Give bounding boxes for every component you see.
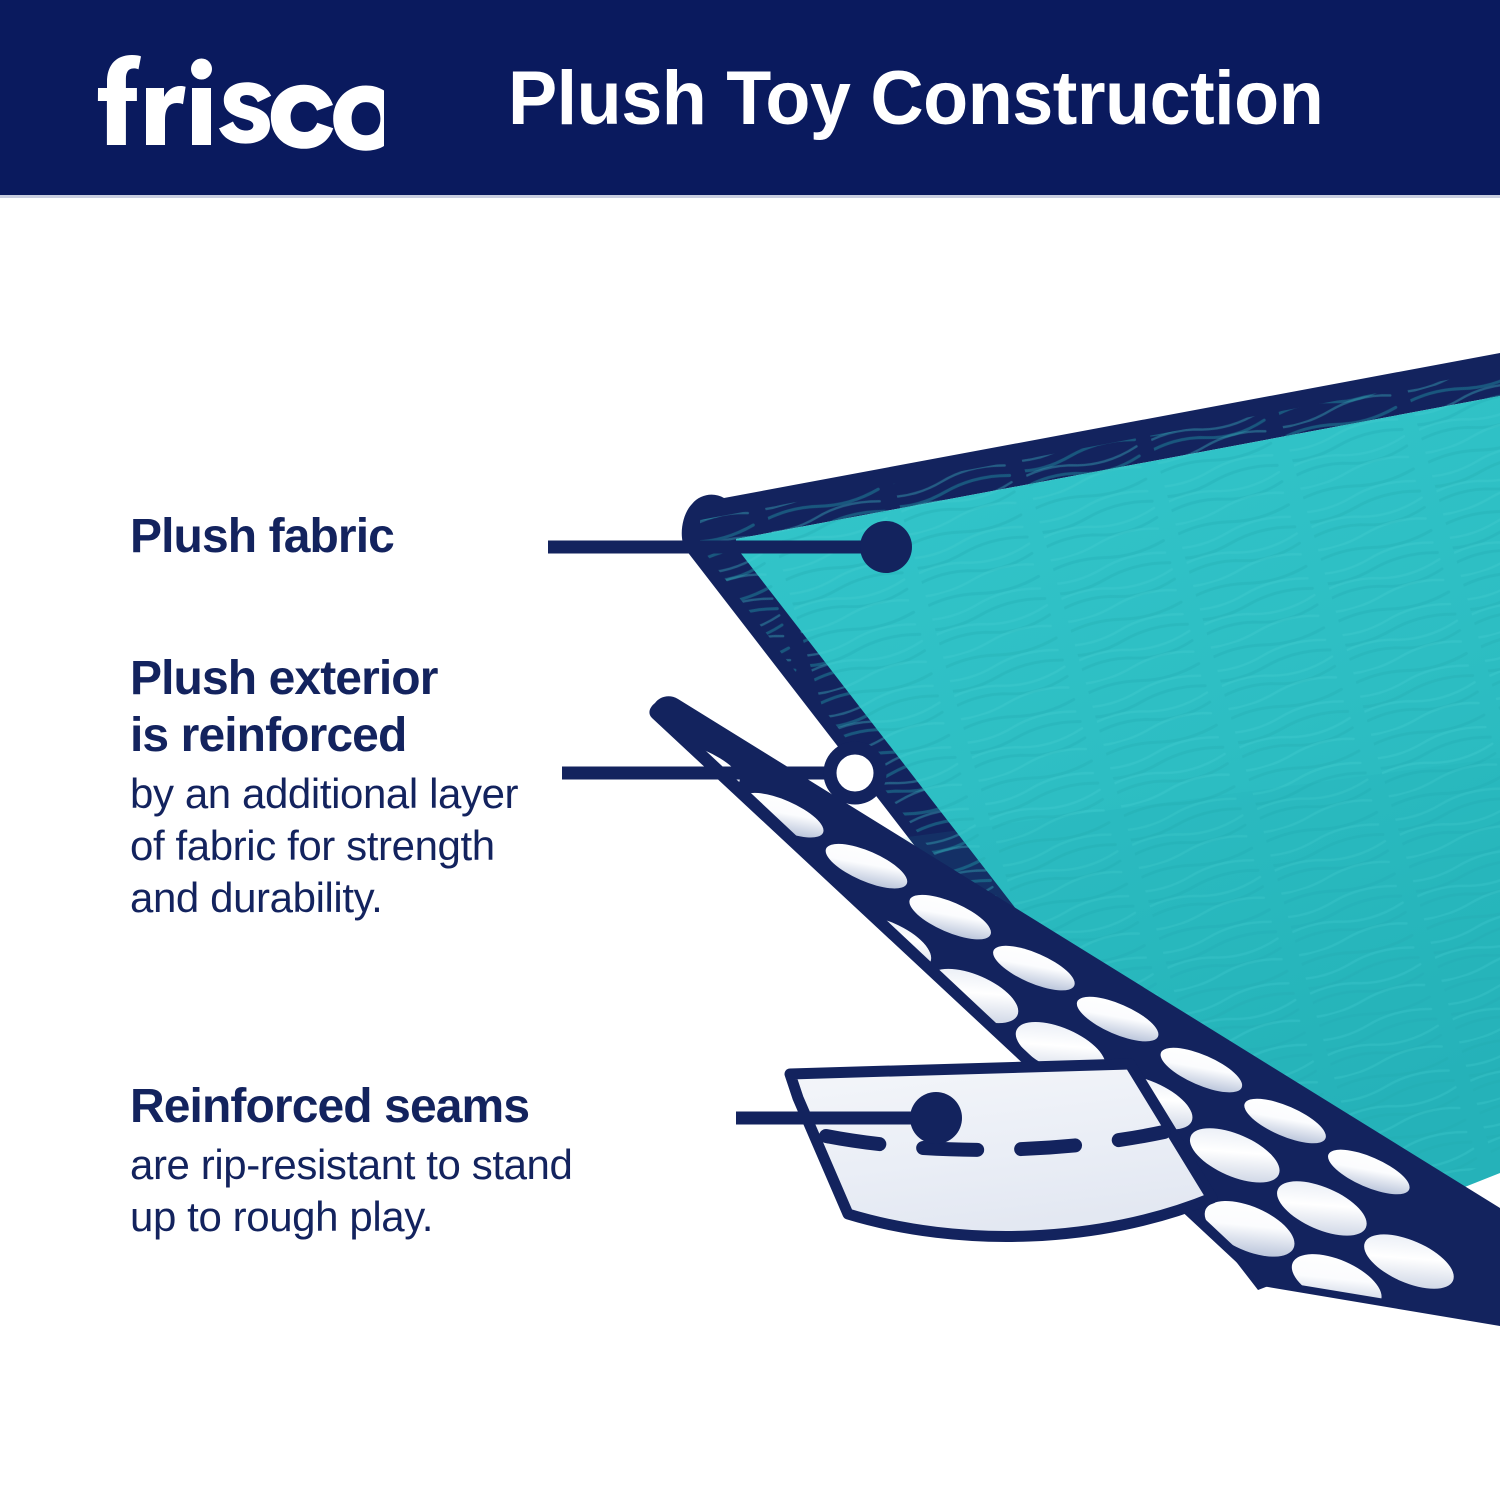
marker-filled-dot [910, 1092, 962, 1144]
frisco-logo: R [84, 42, 384, 152]
callout-heading: Reinforced seams [130, 1078, 572, 1135]
infographic-page: R Plush Toy Construction [0, 0, 1500, 1500]
marker-hollow-ring [830, 748, 880, 798]
callout-reinforced-seams: Reinforced seams are rip-resistant to st… [130, 1078, 572, 1243]
callout-body: are rip-resistant to stand up to rough p… [130, 1139, 572, 1243]
callout-plush-fabric: Plush fabric [130, 508, 394, 565]
header-bar: R Plush Toy Construction [0, 0, 1500, 198]
callout-body: by an additional layer of fabric for str… [130, 768, 518, 924]
marker-filled-dot [860, 521, 912, 573]
callout-heading: Plush fabric [130, 508, 394, 565]
callout-heading: Plush exterior is reinforced [130, 650, 518, 764]
callout-plush-exterior: Plush exterior is reinforced by an addit… [130, 650, 518, 924]
reinforced-seam-flap [790, 1064, 1212, 1236]
page-title: Plush Toy Construction [508, 40, 1323, 158]
